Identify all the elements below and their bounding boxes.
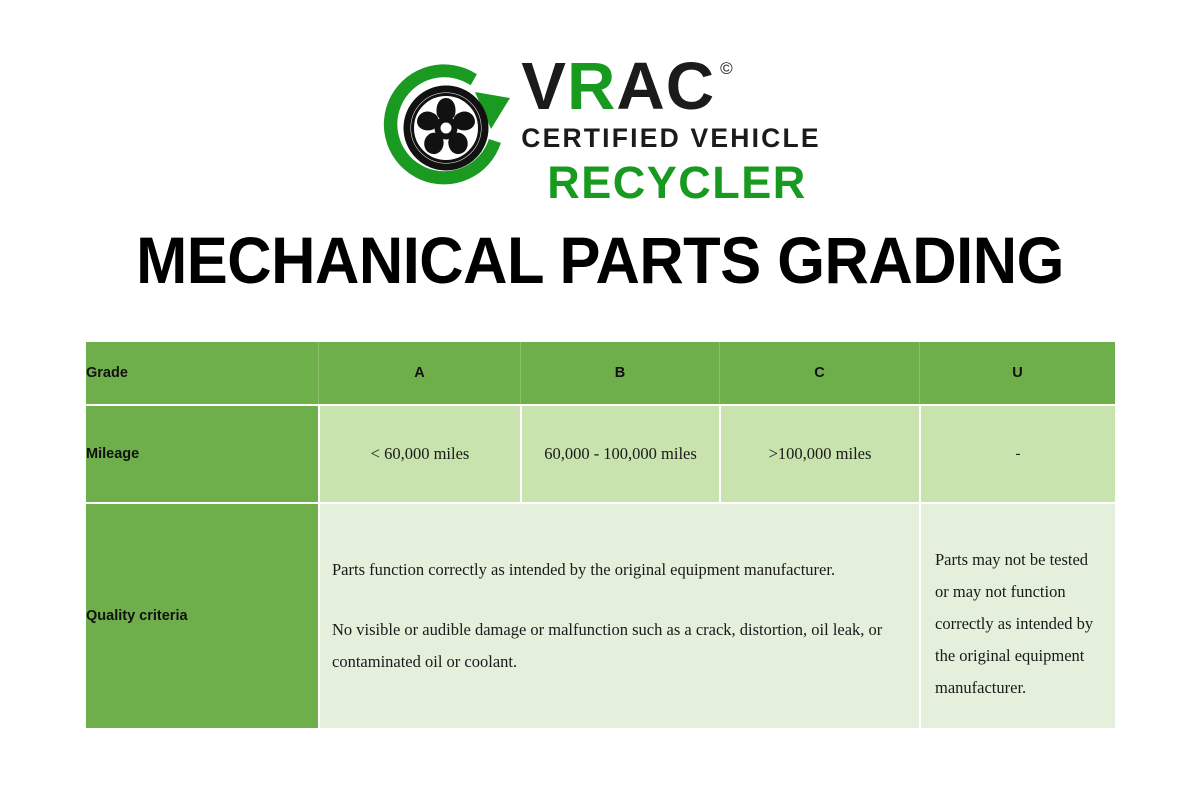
quality-u-paragraph: Parts may not be tested or may not funct… — [935, 544, 1105, 705]
brand-vrac-text: VRAC — [521, 58, 715, 117]
header-cell-grade: Grade — [86, 342, 318, 404]
header-cell-grade-u: U — [919, 342, 1115, 404]
header-cell-grade-c: C — [719, 342, 919, 404]
brand-wordmark: VRAC © CERTIFIED VEHICLE RECYCLER — [521, 52, 820, 209]
mileage-cell-u: - — [919, 404, 1115, 502]
brand-tagline: CERTIFIED VEHICLE — [521, 123, 820, 154]
row-label-mileage: Mileage — [86, 404, 318, 502]
table-row-quality-criteria: Quality criteria Parts function correctl… — [86, 502, 1115, 728]
quality-abc-paragraph-2: No visible or audible damage or malfunct… — [332, 614, 903, 678]
mileage-cell-c: >100,000 miles — [719, 404, 919, 502]
header-cell-grade-a: A — [318, 342, 520, 404]
mechanical-parts-grading-table: Grade A B C U Mileage < 60,000 miles 60,… — [86, 342, 1115, 728]
brand-logo: VRAC © CERTIFIED VEHICLE RECYCLER — [0, 52, 1200, 202]
page-title: MECHANICAL PARTS GRADING — [42, 222, 1158, 298]
mileage-cell-b: 60,000 - 100,000 miles — [520, 404, 719, 502]
copyright-icon: © — [720, 62, 733, 77]
recycling-wheel-logo-icon — [379, 52, 519, 200]
quality-cell-abc: Parts function correctly as intended by … — [318, 502, 919, 728]
mileage-cell-a: < 60,000 miles — [318, 404, 520, 502]
brand-recycler-text: RECYCLER — [547, 157, 820, 209]
header-cell-grade-b: B — [520, 342, 719, 404]
quality-cell-u: Parts may not be tested or may not funct… — [919, 502, 1115, 728]
table-row-mileage: Mileage < 60,000 miles 60,000 - 100,000 … — [86, 404, 1115, 502]
row-label-quality-criteria: Quality criteria — [86, 502, 318, 728]
table-header-row: Grade A B C U — [86, 342, 1115, 404]
quality-abc-paragraph-1: Parts function correctly as intended by … — [332, 554, 903, 586]
